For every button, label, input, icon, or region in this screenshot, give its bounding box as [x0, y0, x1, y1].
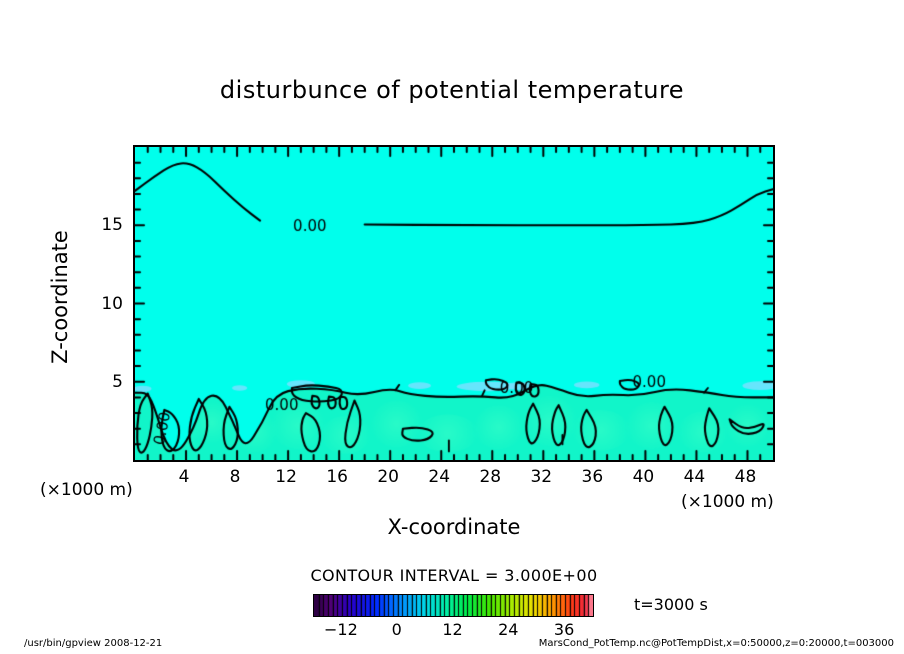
colorbar-tick-label: 24	[484, 620, 532, 639]
x-tick-label: 20	[368, 467, 408, 487]
y-axis-unit-label: (×1000 m)	[40, 480, 133, 500]
x-tick-label: 40	[623, 467, 663, 487]
x-tick-label: 12	[266, 467, 306, 487]
colorbar-canvas	[314, 595, 593, 616]
contour-interval-label: CONTOUR INTERVAL = 3.000E+00	[252, 566, 656, 585]
x-tick-label: 8	[215, 467, 255, 487]
colorbar-tick-label: 0	[373, 620, 421, 639]
colorbar	[313, 594, 594, 617]
y-tick-label: 5	[83, 372, 123, 392]
x-tick-label: 24	[419, 467, 459, 487]
x-tick-label: 36	[572, 467, 612, 487]
x-axis-label: X-coordinate	[252, 515, 656, 539]
colorbar-tick-label: −12	[317, 620, 365, 639]
y-axis-label: Z-coordinate	[48, 197, 72, 397]
contour-plot-canvas	[135, 147, 773, 460]
colorbar-tick-labels: −120122436	[313, 620, 594, 640]
y-tick-label: 10	[83, 294, 123, 314]
x-tick-label: 28	[470, 467, 510, 487]
contour-plot-frame	[133, 145, 775, 462]
x-axis-tick-labels: 4812162024283236404448	[133, 467, 775, 489]
x-tick-label: 44	[674, 467, 714, 487]
colorbar-tick-label: 12	[429, 620, 477, 639]
time-label: t=3000 s	[634, 595, 708, 614]
x-tick-label: 16	[317, 467, 357, 487]
x-axis-unit-label: (×1000 m)	[681, 492, 774, 512]
footer-dataset: MarsCond_PotTemp.nc@PotTempDist,x=0:5000…	[539, 638, 894, 649]
page-title: disturbunce of potential temperature	[0, 76, 904, 104]
footer-command: /usr/bin/gpview 2008-12-21	[24, 638, 162, 649]
x-tick-label: 32	[521, 467, 561, 487]
x-tick-label: 48	[725, 467, 765, 487]
y-tick-label: 15	[83, 215, 123, 235]
colorbar-tick-label: 36	[540, 620, 588, 639]
x-tick-label: 4	[164, 467, 204, 487]
